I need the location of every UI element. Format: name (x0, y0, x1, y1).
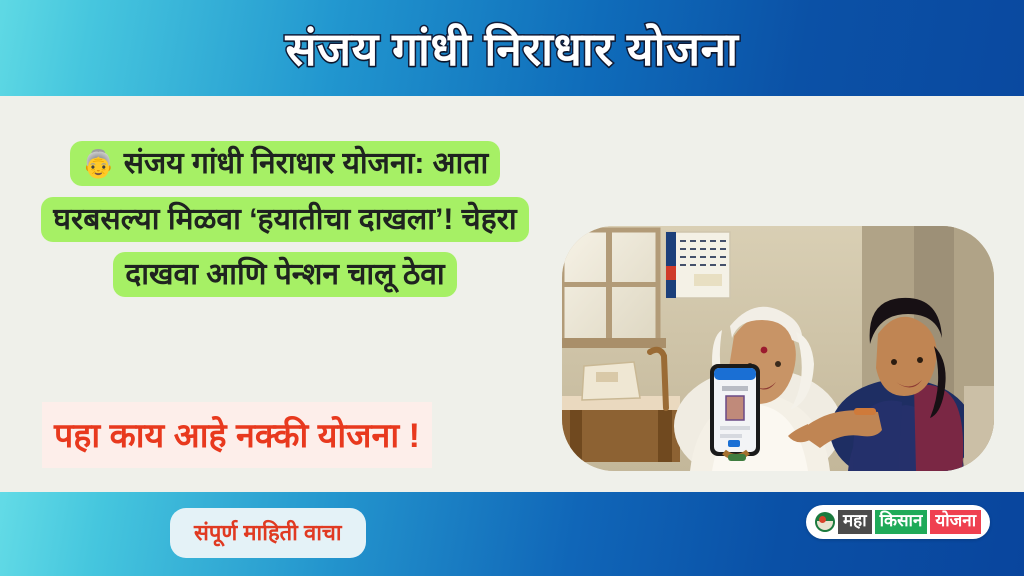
poster-canvas: संजय गांधी निराधार योजना 👵 संजय गांधी नि… (0, 0, 1024, 576)
highlight-text-block: 👵 संजय गांधी निराधार योजना: आता घरबसल्या… (30, 136, 540, 303)
main-content: 👵 संजय गांधी निराधार योजना: आता घरबसल्या… (0, 96, 1024, 480)
maha-kisan-yojana-logo: महा किसान योजना (806, 505, 990, 539)
logo-part-maha: महा (838, 510, 872, 534)
logo-emblem-icon (815, 512, 835, 532)
red-banner-wrap: पहा काय आहे नक्की योजना ! (42, 402, 432, 468)
header-bar: संजय गांधी निराधार योजना (0, 0, 1024, 96)
logo-part-kisan: किसान (875, 510, 928, 534)
read-full-info-button[interactable]: संपूर्ण माहिती वाचा (170, 508, 366, 558)
highlight-text: 👵 संजय गांधी निराधार योजना: आता घरबसल्या… (41, 141, 528, 297)
older-woman-emoji: 👵 (82, 149, 116, 179)
logo-part-yojana: योजना (930, 510, 981, 534)
photo-illustration (562, 226, 994, 471)
red-banner-text: पहा काय आहे नक्की योजना ! (42, 402, 432, 468)
feature-photo (562, 226, 994, 471)
highlight-text-content: संजय गांधी निराधार योजना: आता घरबसल्या म… (53, 147, 516, 291)
page-title: संजय गांधी निराधार योजना (285, 17, 738, 79)
